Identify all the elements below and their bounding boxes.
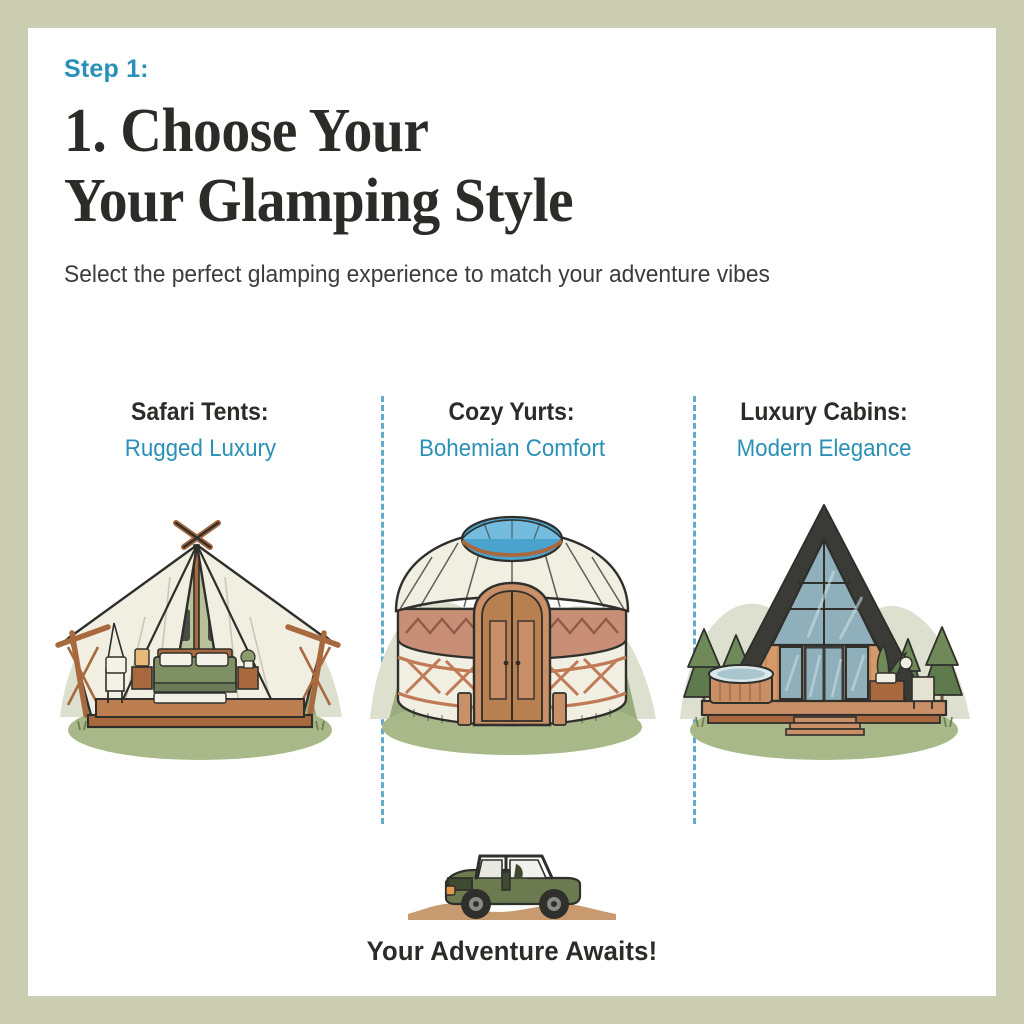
poster-card: Step 1: 1. Choose Your Your Glamping Sty… [28,28,996,996]
style-options-row: Safari Tents: Rugged Luxury [44,368,980,838]
safari-tent-illustration [50,487,350,767]
page-title-line-2: Your Glamping Style [64,166,901,237]
page-title-line-1: 1. Choose Your [64,96,901,167]
option-subtitle-luxury-cabins: Modern Elegance [737,435,912,463]
option-title-cozy-yurts: Cozy Yurts: [449,398,575,427]
yurt-illustration [362,487,662,767]
off-road-jeep-illustration [402,846,622,926]
option-luxury-cabins[interactable]: Luxury Cabins: Modern Elegance [668,368,980,838]
a-frame-cabin-illustration [674,487,974,767]
option-cozy-yurts[interactable]: Cozy Yurts: Bohemian Comfort [356,368,668,838]
option-subtitle-cozy-yurts: Bohemian Comfort [419,435,605,463]
footer-block: Your Adventure Awaits! [28,846,996,967]
page-subtitle: Select the perfect glamping experience t… [64,259,919,290]
step-label: Step 1: [64,56,964,84]
footer-tagline: Your Adventure Awaits! [367,936,658,967]
option-title-safari-tents: Safari Tents: [131,398,269,427]
option-subtitle-safari-tents: Rugged Luxury [124,435,275,463]
page-title: 1. Choose Your Your Glamping Style [64,96,901,237]
header-block: Step 1: 1. Choose Your Your Glamping Sty… [64,56,964,290]
option-safari-tents[interactable]: Safari Tents: Rugged Luxury [44,368,356,838]
option-title-luxury-cabins: Luxury Cabins: [740,398,907,427]
